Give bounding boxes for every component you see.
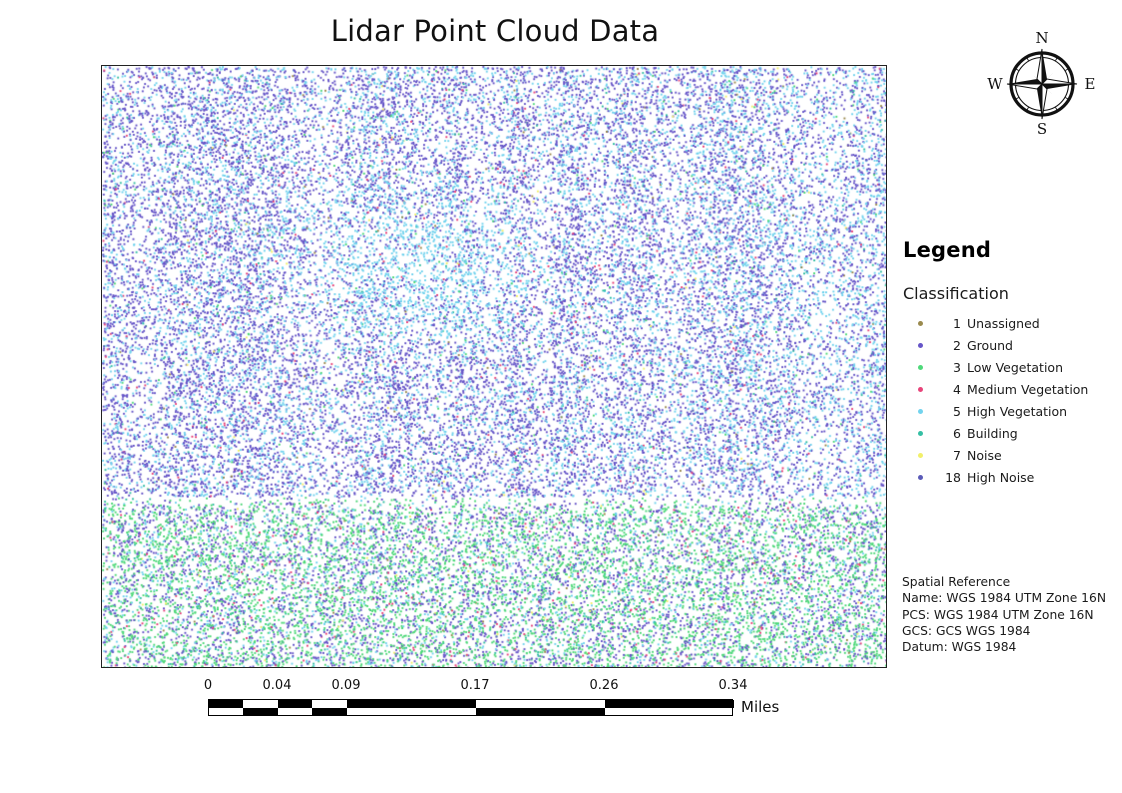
legend-item-label: Low Vegetation [967, 360, 1063, 375]
scale-bar-tick-label: 0.34 [719, 678, 748, 693]
spatial-reference-pcs: PCS: WGS 1984 UTM Zone 16N [902, 607, 1117, 623]
spatial-reference-name: Name: WGS 1984 UTM Zone 16N [902, 590, 1117, 606]
lidar-point-cloud[interactable] [102, 66, 886, 667]
legend-item-ground[interactable]: 2Ground [903, 334, 1118, 356]
spatial-reference-block: Spatial Reference Name: WGS 1984 UTM Zon… [902, 574, 1117, 655]
compass-north-label: N [1035, 29, 1048, 47]
legend-item-code: 18 [937, 470, 967, 485]
scale-bar-labels: 00.040.090.170.260.34 [208, 678, 733, 697]
legend-swatch-cell [903, 409, 937, 414]
legend-item-high-vegetation[interactable]: 5High Vegetation [903, 400, 1118, 422]
legend-color-swatch-icon [918, 431, 923, 436]
legend-item-label: High Vegetation [967, 404, 1067, 419]
legend-swatch-cell [903, 365, 937, 370]
scale-bar-segment [476, 700, 605, 708]
legend-item-code: 2 [937, 338, 967, 353]
legend-swatch-cell [903, 343, 937, 348]
compass-east-label: E [1085, 75, 1096, 93]
legend-item-high-noise[interactable]: 18High Noise [903, 466, 1118, 488]
legend-item-label: Building [967, 426, 1018, 441]
legend-item-label: Medium Vegetation [967, 382, 1088, 397]
scale-bar-segment [278, 708, 312, 716]
legend-item-code: 5 [937, 404, 967, 419]
legend-color-swatch-icon [918, 453, 923, 458]
legend-item-code: 4 [937, 382, 967, 397]
compass-rose-icon: N S W E [984, 22, 1100, 138]
legend-panel: Legend Classification 1Unassigned2Ground… [903, 238, 1118, 488]
legend-color-swatch-icon [918, 365, 923, 370]
legend-heading: Legend [903, 238, 1118, 262]
spatial-reference-gcs: GCS: GCS WGS 1984 [902, 623, 1117, 639]
scale-bar-tick-label: 0.17 [461, 678, 490, 693]
legend-item-label: Unassigned [967, 316, 1040, 331]
scale-bar-segment [605, 708, 734, 716]
scale-bar-tick-label: 0 [204, 678, 212, 693]
scale-bar-segment [243, 700, 278, 708]
scale-bar-tick-label: 0.04 [263, 678, 292, 693]
scale-bar-segment [347, 700, 476, 708]
legend-item-code: 6 [937, 426, 967, 441]
legend-swatch-cell [903, 453, 937, 458]
legend-item-label: High Noise [967, 470, 1034, 485]
scale-bar-segment [209, 708, 243, 716]
scale-bar: 00.040.090.170.260.34 Miles [208, 678, 733, 723]
legend-swatch-cell [903, 431, 937, 436]
scale-bar-segment [243, 708, 278, 716]
compass-south-label: S [1037, 120, 1047, 138]
legend-swatch-cell [903, 387, 937, 392]
scale-bar-tick-label: 0.26 [590, 678, 619, 693]
legend-item-list: 1Unassigned2Ground3Low Vegetation4Medium… [903, 312, 1118, 488]
legend-swatch-cell [903, 321, 937, 326]
scale-bar-segment [312, 708, 347, 716]
scale-bar-segment [209, 700, 243, 708]
scale-bar-segment [347, 708, 476, 716]
scale-bar-segment [605, 700, 734, 708]
legend-item-unassigned[interactable]: 1Unassigned [903, 312, 1118, 334]
legend-subheading: Classification [903, 284, 1118, 303]
legend-item-building[interactable]: 6Building [903, 422, 1118, 444]
legend-swatch-cell [903, 475, 937, 480]
map-canvas-frame[interactable] [101, 65, 887, 668]
legend-item-code: 7 [937, 448, 967, 463]
page-title: Lidar Point Cloud Data [0, 14, 990, 48]
scale-bar-graphic [208, 699, 733, 716]
legend-item-label: Ground [967, 338, 1013, 353]
spatial-reference-heading: Spatial Reference [902, 574, 1117, 590]
legend-color-swatch-icon [918, 321, 923, 326]
legend-item-medium-vegetation[interactable]: 4Medium Vegetation [903, 378, 1118, 400]
legend-item-label: Noise [967, 448, 1002, 463]
legend-color-swatch-icon [918, 475, 923, 480]
legend-item-code: 1 [937, 316, 967, 331]
scale-bar-segment [278, 700, 312, 708]
legend-color-swatch-icon [918, 409, 923, 414]
scale-bar-units-label: Miles [741, 698, 779, 716]
legend-item-code: 3 [937, 360, 967, 375]
legend-item-noise[interactable]: 7Noise [903, 444, 1118, 466]
legend-color-swatch-icon [918, 343, 923, 348]
scale-bar-segment [312, 700, 347, 708]
legend-item-low-vegetation[interactable]: 3Low Vegetation [903, 356, 1118, 378]
compass-west-label: W [987, 75, 1003, 93]
legend-color-swatch-icon [918, 387, 923, 392]
spatial-reference-datum: Datum: WGS 1984 [902, 639, 1117, 655]
scale-bar-tick-label: 0.09 [332, 678, 361, 693]
scale-bar-segment [476, 708, 605, 716]
